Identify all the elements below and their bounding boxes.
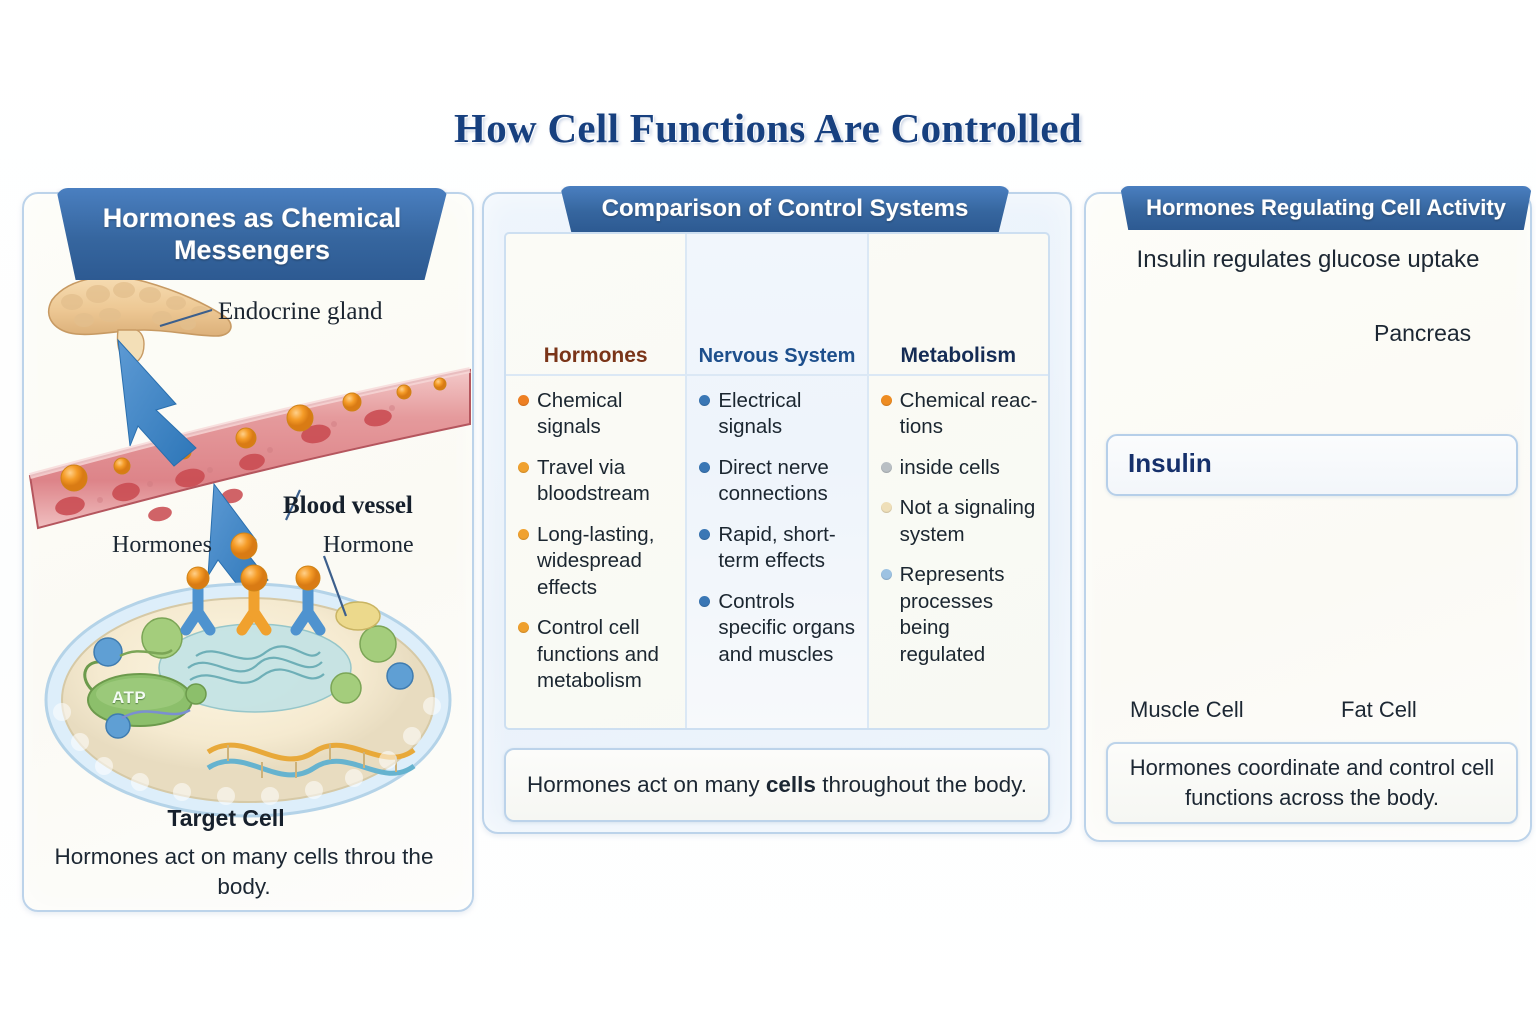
table-column-nervous-system: Nervous System Electrical signals Direct… xyxy=(685,234,866,728)
list-item: Not a signaling system xyxy=(881,495,1040,548)
panel-mid-banner: Comparison of Control Systems xyxy=(560,186,1010,232)
endocrine-gland-illustration xyxy=(49,277,231,363)
column-title: Hormones xyxy=(544,345,648,366)
column-title: Nervous System xyxy=(699,346,856,366)
bullet-dot xyxy=(518,462,529,473)
list-item: Direct nerve connections xyxy=(699,455,858,508)
panel-right-banner: Hormones Regulating Cell Activity xyxy=(1120,186,1532,230)
bullet-dot xyxy=(518,395,529,406)
list-item: Control cell functions and metabolism xyxy=(518,615,677,694)
caption-text-post: throughout the body. xyxy=(816,772,1027,797)
table-header-nervous-system: Nervous System xyxy=(687,234,866,376)
list-item: inside cells xyxy=(881,455,1040,481)
list-item: Travel via bloodstream xyxy=(518,455,677,508)
list-item: Controls specific organs and muscles xyxy=(699,589,858,668)
label-endocrine-gland: Endocrine gland xyxy=(218,298,383,326)
list-item: Represents processes being regulated xyxy=(881,562,1040,668)
panel-mid-caption: Hormones act on many cells throughout th… xyxy=(504,748,1050,822)
bullet-dot xyxy=(699,462,710,473)
table-column-hormones: Hormones Chemical signals Travel via blo… xyxy=(506,234,685,728)
label-fat-cell: Fat Cell xyxy=(1341,697,1417,723)
label-hormone: Hormone xyxy=(323,532,414,559)
label-blood-vessel: Blood vessel xyxy=(283,492,413,520)
list-item: Long-lasting, widespread effects xyxy=(518,522,677,601)
label-target-cell: Target Cell xyxy=(0,805,452,832)
table-body-nervous-system: Electrical signals Direct nerve connecti… xyxy=(687,376,866,692)
list-item: Rapid, short-term effects xyxy=(699,522,858,575)
infographic-canvas: How Cell Functions Are Controlled xyxy=(0,0,1536,1024)
table-body-metabolism: Chemical reac-tions inside cells Not a s… xyxy=(869,376,1048,692)
bullet-dot xyxy=(881,502,892,513)
label-hormones: Hormones xyxy=(112,532,212,559)
table-header-metabolism: Metabolism xyxy=(869,234,1048,376)
panel-right-caption: Hormones coordinate and control cell fun… xyxy=(1106,742,1518,824)
caption-text-bold: cells xyxy=(766,772,816,797)
bullet-dot xyxy=(518,529,529,540)
bullet-dot xyxy=(881,462,892,473)
bullet-dot xyxy=(699,529,710,540)
list-item: Chemical reac-tions xyxy=(881,388,1040,441)
comparison-table: Hormones Chemical signals Travel via blo… xyxy=(504,232,1050,730)
bullet-dot xyxy=(518,622,529,633)
label-pancreas: Pancreas xyxy=(1374,320,1471,347)
bullet-dot xyxy=(699,395,710,406)
panel-left-banner: Hormones as Chemical Messengers xyxy=(56,188,448,280)
bullet-dot xyxy=(881,395,892,406)
list-item: Electrical signals xyxy=(699,388,858,441)
list-item: Chemical signals xyxy=(518,388,677,441)
label-atp: ATP xyxy=(112,688,146,708)
bullet-dot xyxy=(699,596,710,607)
panel-right-subtitle: Insulin regulates glucose uptake xyxy=(1084,246,1532,274)
caption-text-pre: Hormones act on many xyxy=(527,772,766,797)
label-insulin: Insulin xyxy=(1128,448,1212,479)
panel-left-caption: Hormones act on many cells throu the bod… xyxy=(34,842,454,902)
table-header-hormones: Hormones xyxy=(506,234,685,376)
bullet-dot xyxy=(881,569,892,580)
table-column-metabolism: Metabolism Chemical reac-tions inside ce… xyxy=(867,234,1048,728)
label-muscle-cell: Muscle Cell xyxy=(1130,697,1244,723)
column-title: Metabolism xyxy=(901,345,1017,366)
table-body-hormones: Chemical signals Travel via bloodstream … xyxy=(506,376,685,718)
